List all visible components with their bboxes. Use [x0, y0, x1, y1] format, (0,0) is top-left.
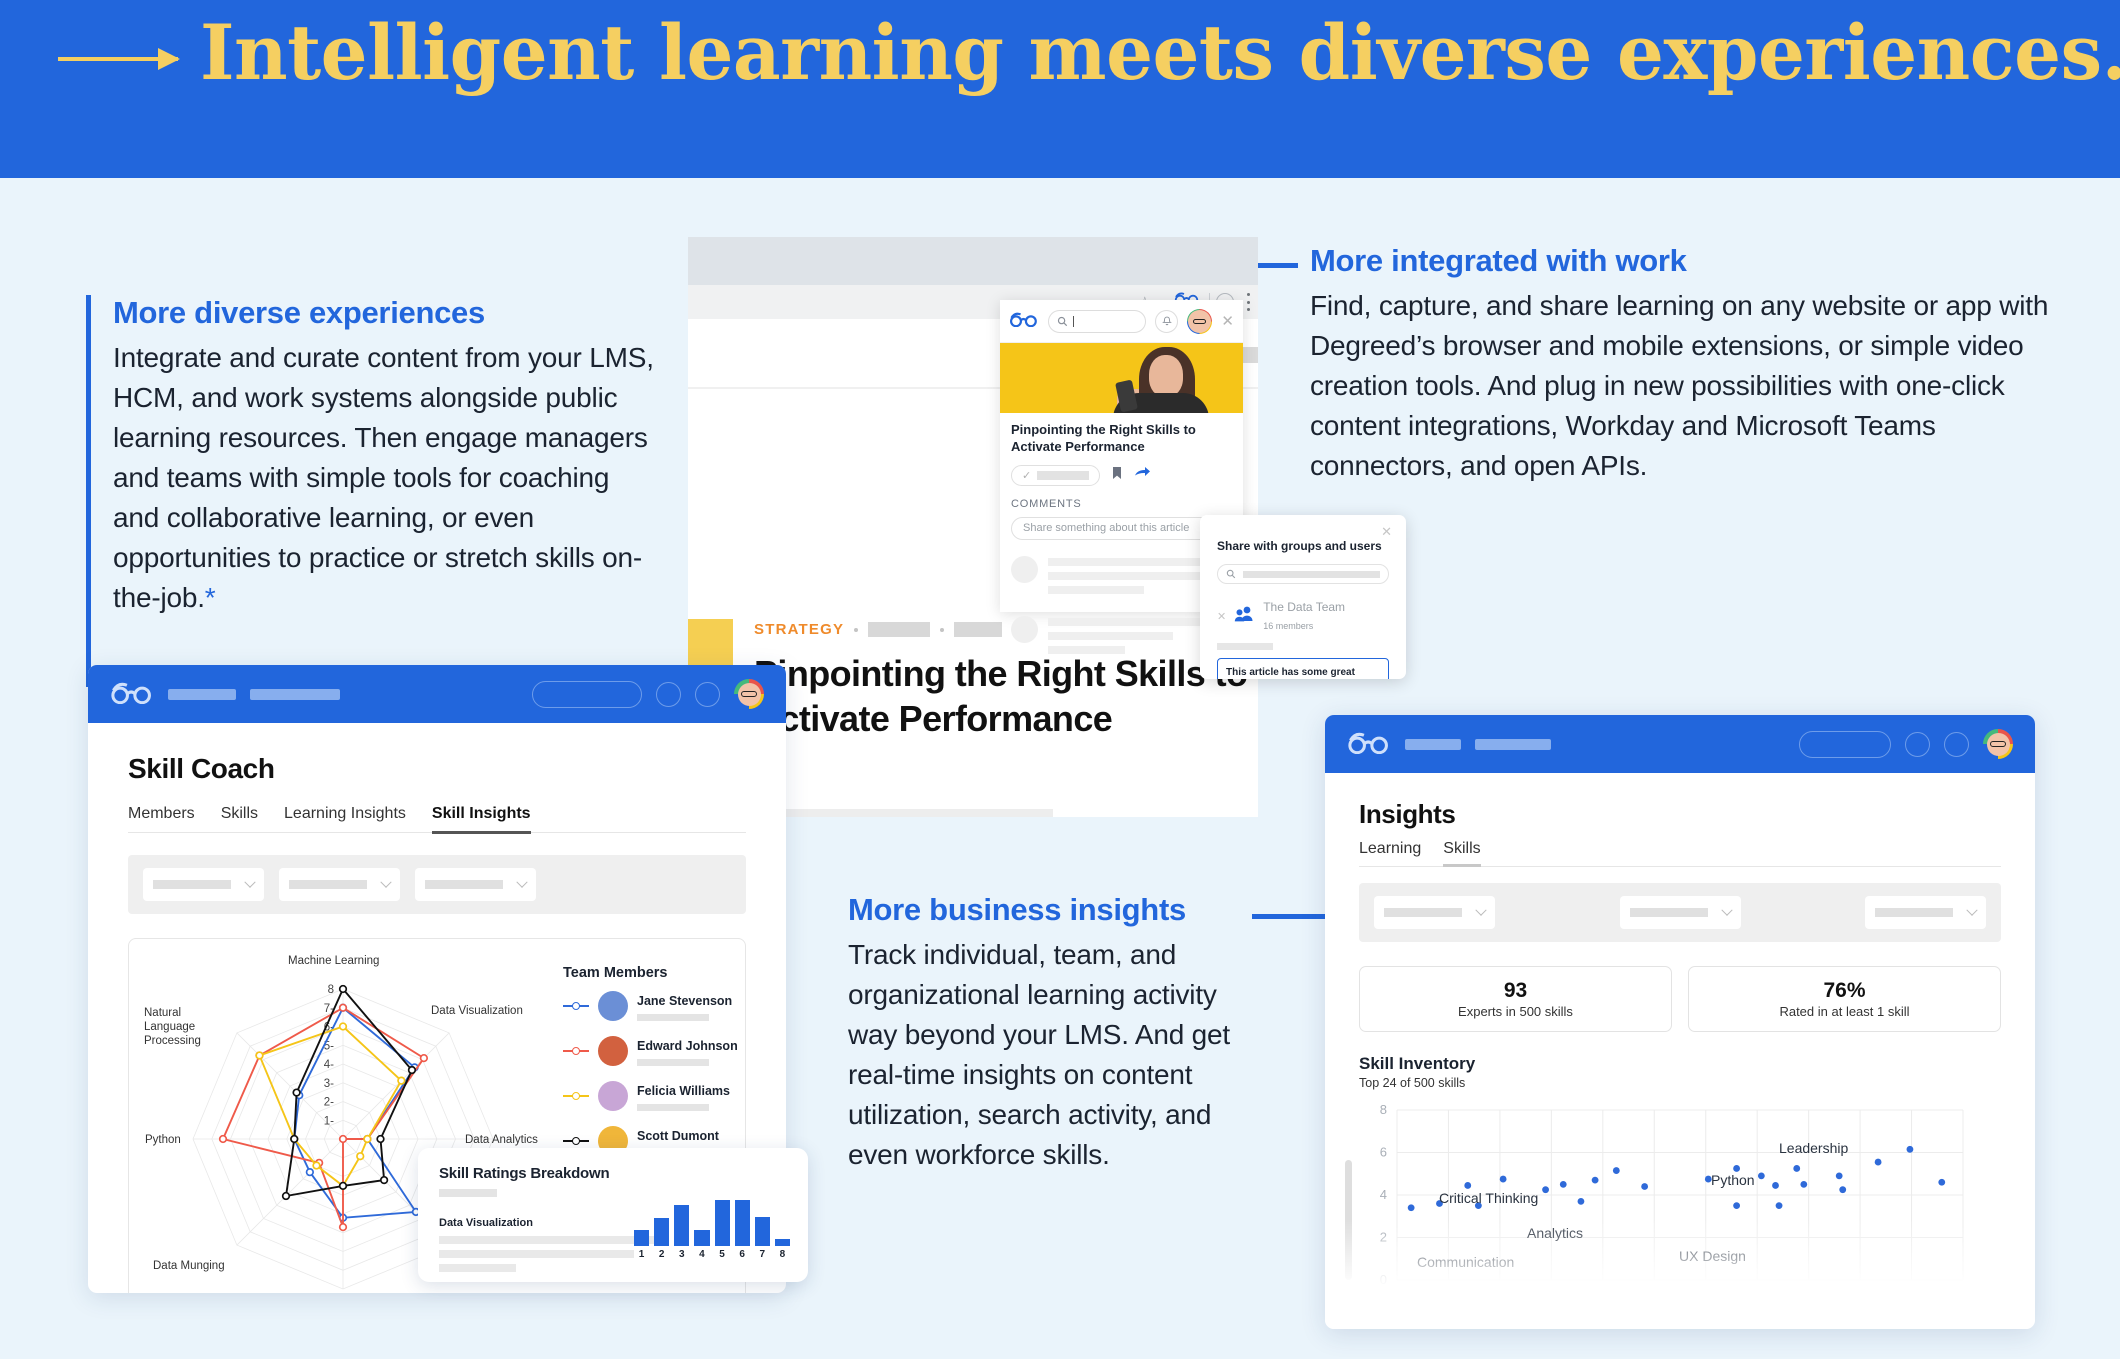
nav-item-skeleton[interactable] [168, 689, 236, 700]
user-avatar[interactable] [734, 679, 764, 709]
extension-header: ✕ [1000, 300, 1243, 343]
article-headline: Pinpointing the Right Skills to Activate… [754, 651, 1258, 741]
scatter-annotation: Analytics [1527, 1225, 1583, 1241]
article-meta: STRATEGY [754, 621, 1002, 638]
kpi-experts: 93 Experts in 500 skills [1359, 966, 1672, 1032]
nav-item-skeleton[interactable] [250, 689, 340, 700]
share-recipient-row: ✕ The Data Team 16 members [1217, 598, 1389, 634]
notifications-icon[interactable] [656, 682, 681, 707]
footnote-marker: * [205, 582, 216, 613]
filter-dropdown-1[interactable] [143, 868, 264, 901]
extension-article-title: Pinpointing the Right Skills to Activate… [1000, 413, 1243, 456]
kpi-rated: 76% Rated in at least 1 skill [1688, 966, 2001, 1032]
x-axis-title-skeleton [1609, 1294, 1749, 1303]
filter-dropdown-1[interactable] [1374, 896, 1495, 929]
share-dialog-title: Share with groups and users [1217, 539, 1389, 553]
callout-more-diverse-experiences: More diverse experiences Integrate and c… [86, 295, 656, 618]
app-header [88, 665, 786, 723]
x-tick-skeleton [1458, 1287, 1485, 1296]
filter-bar [1359, 883, 2001, 942]
input-skeleton [1243, 571, 1380, 578]
page-title: Skill Coach [128, 753, 746, 785]
avatar-glasses-icon [741, 691, 757, 697]
svg-text:8: 8 [1380, 1102, 1387, 1117]
bar-column: 4 [694, 1230, 709, 1260]
callout-body-integrated: Find, capture, and share learning on any… [1310, 286, 2050, 486]
degreed-glasses-icon[interactable] [1009, 311, 1039, 332]
bar-label: 8 [780, 1249, 786, 1260]
tab-members[interactable]: Members [128, 805, 195, 832]
kpi-value: 93 [1504, 979, 1527, 1003]
label-skeleton [1037, 471, 1089, 480]
team-members-legend: Jane StevensonEdward JohnsonFelicia Will… [563, 991, 738, 1171]
remove-x-icon[interactable]: ✕ [1217, 610, 1226, 623]
filter-label-skeleton [1630, 908, 1708, 917]
extension-search-input[interactable] [1048, 310, 1146, 333]
legend-item[interactable]: Edward Johnson [563, 1036, 738, 1066]
help-icon[interactable] [1944, 732, 1969, 757]
legend-line-swatch [563, 1140, 589, 1142]
comment-input[interactable]: Share something about this article [1011, 517, 1232, 540]
share-search-input[interactable] [1217, 564, 1389, 584]
callout-rule [86, 295, 91, 687]
subtitle-skeleton [439, 1189, 497, 1197]
legend-text: Felicia Williams [637, 1082, 730, 1111]
filter-dropdown-2[interactable] [1620, 896, 1741, 929]
radar-axis-label-machine-learning: Machine Learning [288, 955, 379, 969]
close-icon[interactable]: ✕ [1221, 312, 1234, 330]
member-name: Jane Stevenson [637, 994, 732, 1008]
illustration-face [1149, 355, 1183, 397]
svg-text:3-: 3- [324, 1078, 334, 1090]
member-name: Scott Dumont [637, 1129, 719, 1143]
skill-inventory-scatter: 02468 CommunicationCritical ThinkingAnal… [1359, 1102, 2001, 1317]
bar-column: 8 [775, 1239, 790, 1260]
nav-item-skeleton[interactable] [1405, 739, 1461, 750]
chevron-down-icon [1966, 904, 1977, 915]
meta-skeleton [868, 622, 930, 637]
share-message-textarea[interactable]: This article has some great ideas for ou… [1217, 658, 1389, 679]
member-name: Felicia Williams [637, 1084, 730, 1098]
radar-axis-label-python: Python [145, 1134, 181, 1148]
tab-learning-insights[interactable]: Learning Insights [284, 805, 406, 832]
avatar [1011, 616, 1038, 643]
kebab-menu-icon[interactable] [1246, 293, 1250, 311]
legend-title: Team Members [563, 965, 668, 981]
tab-skill-insights[interactable]: Skill Insights [432, 805, 531, 832]
skill-inventory-subtitle: Top 24 of 500 skills [1359, 1076, 2001, 1090]
chevron-down-icon [380, 876, 391, 887]
skill-inventory-title: Skill Inventory [1359, 1054, 2001, 1074]
label-skeleton [1217, 643, 1273, 650]
callout-heading-integrated: More integrated with work [1310, 243, 2050, 279]
scrollbar-vertical[interactable] [1345, 1160, 1352, 1280]
avatar-glasses-icon [1193, 319, 1206, 324]
bar-column: 3 [674, 1205, 689, 1260]
x-tick-skeleton [1510, 1287, 1537, 1296]
chevron-down-icon [516, 876, 527, 887]
svg-text:2-: 2- [324, 1097, 334, 1109]
help-icon[interactable] [695, 682, 720, 707]
legend-text: Edward Johnson [637, 1037, 738, 1066]
legend-text: Jane Stevenson [637, 992, 732, 1021]
bar [755, 1217, 770, 1246]
radar-axis-label-data-munging: Data Munging [153, 1260, 225, 1274]
user-avatar[interactable] [1187, 309, 1212, 334]
chevron-down-icon [1475, 904, 1486, 915]
bar-column: 2 [654, 1218, 669, 1260]
svg-text:2: 2 [1380, 1230, 1387, 1245]
meta-dot [940, 628, 944, 632]
x-tick-skeleton [1407, 1287, 1434, 1296]
nav-item-skeleton[interactable] [1475, 739, 1551, 750]
svg-text:4: 4 [1380, 1187, 1387, 1202]
chevron-down-icon [1721, 904, 1732, 915]
callout-more-business-insights: More business insights Track individual,… [848, 892, 1248, 1175]
bar [634, 1230, 649, 1246]
filter-label-skeleton [289, 880, 367, 889]
legend-line-swatch [563, 1005, 589, 1007]
bar [654, 1218, 669, 1246]
filter-dropdown-2[interactable] [279, 868, 400, 901]
group-name: The Data Team [1263, 600, 1345, 614]
x-tick-skeleton [1767, 1287, 1794, 1296]
close-icon[interactable]: ✕ [1381, 524, 1392, 540]
bar-label: 3 [679, 1249, 685, 1260]
member-role-skeleton [637, 1059, 709, 1066]
x-tick-skeleton [1819, 1287, 1846, 1296]
kpi-row: 93 Experts in 500 skills 76% Rated in at… [1359, 966, 2001, 1032]
filter-label-skeleton [1875, 908, 1953, 917]
app-header [1325, 715, 2035, 773]
avatar [598, 991, 628, 1021]
x-tick-skeleton [1922, 1287, 1949, 1296]
degreed-glasses-icon[interactable] [110, 680, 154, 709]
legend-item[interactable]: Felicia Williams [563, 1081, 738, 1111]
bar-column: 5 [715, 1200, 730, 1260]
bell-icon[interactable] [1155, 310, 1178, 333]
scatter-annotation: Critical Thinking [1439, 1190, 1538, 1206]
bar-column: 7 [755, 1217, 770, 1260]
callout-more-integrated-with-work: More integrated with work Find, capture,… [1310, 243, 2050, 486]
x-tick-skeleton [1561, 1287, 1588, 1296]
text-caret [1073, 316, 1074, 327]
filter-label-skeleton [1384, 908, 1462, 917]
search-icon [1226, 569, 1236, 579]
page-title: Insights [1359, 799, 2001, 830]
chevron-down-icon [244, 876, 255, 887]
extension-action-row: ✓ [1000, 456, 1243, 486]
notifications-icon[interactable] [1905, 732, 1930, 757]
bar-label: 1 [639, 1249, 645, 1260]
filter-dropdown-3[interactable] [1865, 896, 1986, 929]
svg-text:1-: 1- [324, 1115, 334, 1127]
radar-axis-label-nlp: Natural LanguageProcessing [144, 1007, 224, 1048]
article-category: STRATEGY [754, 621, 844, 638]
bar [694, 1230, 709, 1246]
bookmark-icon[interactable] [1112, 466, 1122, 485]
kpi-label: Experts in 500 skills [1458, 1004, 1573, 1019]
kpi-value: 76% [1823, 979, 1865, 1003]
page-banner: Intelligent learning meets diverse exper… [0, 0, 2120, 178]
check-icon: ✓ [1022, 469, 1031, 482]
search-pill[interactable] [1799, 731, 1891, 758]
callout-body-business: Track individual, team, and organization… [848, 935, 1248, 1175]
radar-axis-label-data-analytics: Data Analytics [465, 1134, 538, 1148]
legend-line-swatch [563, 1050, 589, 1052]
degreed-glasses-icon[interactable] [1347, 730, 1391, 759]
avatar-glasses-icon [1990, 741, 2006, 747]
search-pill[interactable] [532, 681, 642, 708]
member-role-skeleton [637, 1104, 709, 1111]
ratings-card-title: Skill Ratings Breakdown [439, 1165, 787, 1182]
callout-heading-business: More business insights [848, 892, 1248, 928]
bar-label: 7 [760, 1249, 766, 1260]
bar-label: 4 [699, 1249, 705, 1260]
ratings-bar-chart: 12345678 [634, 1198, 790, 1260]
insights-body: Insights Learning Skills 93 Experts in 5… [1325, 773, 2035, 1317]
callout-body-diverse: Integrate and curate content from your L… [113, 338, 656, 618]
bar-column: 6 [735, 1200, 750, 1260]
tab-skills[interactable]: Skills [1443, 840, 1480, 866]
bar [674, 1205, 689, 1246]
bar-column: 1 [634, 1230, 649, 1260]
arrow-right-icon [58, 57, 178, 61]
svg-text:6: 6 [1380, 1145, 1387, 1160]
scatter-annotation: UX Design [1679, 1248, 1746, 1264]
share-dialog: ✕ Share with groups and users ✕ The Data… [1200, 515, 1406, 679]
bar-label: 2 [659, 1249, 665, 1260]
skill-ratings-breakdown-card: Skill Ratings Breakdown Data Visualizati… [418, 1148, 808, 1282]
banner-title: Intelligent learning meets diverse exper… [200, 8, 2120, 97]
bar [775, 1239, 790, 1246]
meta-dot [854, 628, 858, 632]
callout-heading-diverse: More diverse experiences [113, 295, 656, 331]
article-hero-image [1000, 343, 1243, 413]
avatar [598, 1081, 628, 1111]
mark-complete-button[interactable]: ✓ [1011, 465, 1100, 486]
filter-dropdown-3[interactable] [415, 868, 536, 901]
user-avatar[interactable] [1983, 729, 2013, 759]
legend-line-swatch [563, 1095, 589, 1097]
svg-text:4-: 4- [324, 1059, 334, 1071]
group-people-icon [1234, 605, 1255, 627]
bar [715, 1200, 730, 1246]
group-info: The Data Team 16 members [1263, 598, 1345, 634]
svg-text:8: 8 [328, 984, 334, 996]
bar-label: 6 [739, 1249, 745, 1260]
tab-learning[interactable]: Learning [1359, 840, 1421, 866]
filter-label-skeleton [153, 880, 231, 889]
group-member-count: 16 members [1263, 621, 1313, 631]
avatar [1011, 556, 1038, 583]
filter-label-skeleton [425, 880, 503, 889]
bar-label: 5 [719, 1249, 725, 1260]
meta-skeleton [954, 622, 1002, 637]
x-tick-skeleton [1870, 1287, 1897, 1296]
legend-item[interactable]: Jane Stevenson [563, 991, 738, 1021]
scatter-annotation: Python [1711, 1172, 1755, 1188]
bar [735, 1200, 750, 1246]
member-role-skeleton [637, 1014, 709, 1021]
browser-tab-strip [688, 237, 1258, 285]
avatar [598, 1036, 628, 1066]
insights-tabs: Learning Skills [1359, 840, 2001, 867]
skill-coach-tabs: Members Skills Learning Insights Skill I… [128, 805, 746, 833]
search-icon [1057, 316, 1068, 327]
radar-axis-label-data-visualization: Data Visualization [431, 1005, 523, 1019]
kpi-label: Rated in at least 1 skill [1779, 1004, 1909, 1019]
share-arrow-icon[interactable] [1134, 466, 1151, 484]
member-name: Edward Johnson [637, 1039, 738, 1053]
scatter-annotation: Communication [1417, 1254, 1514, 1270]
comments-label: COMMENTS [1000, 486, 1243, 510]
tab-skills[interactable]: Skills [221, 805, 258, 832]
filter-bar [128, 855, 746, 914]
scatter-annotation: Leadership [1779, 1140, 1848, 1156]
svg-text:0: 0 [1380, 1272, 1387, 1287]
insights-window: Insights Learning Skills 93 Experts in 5… [1325, 715, 2035, 1329]
